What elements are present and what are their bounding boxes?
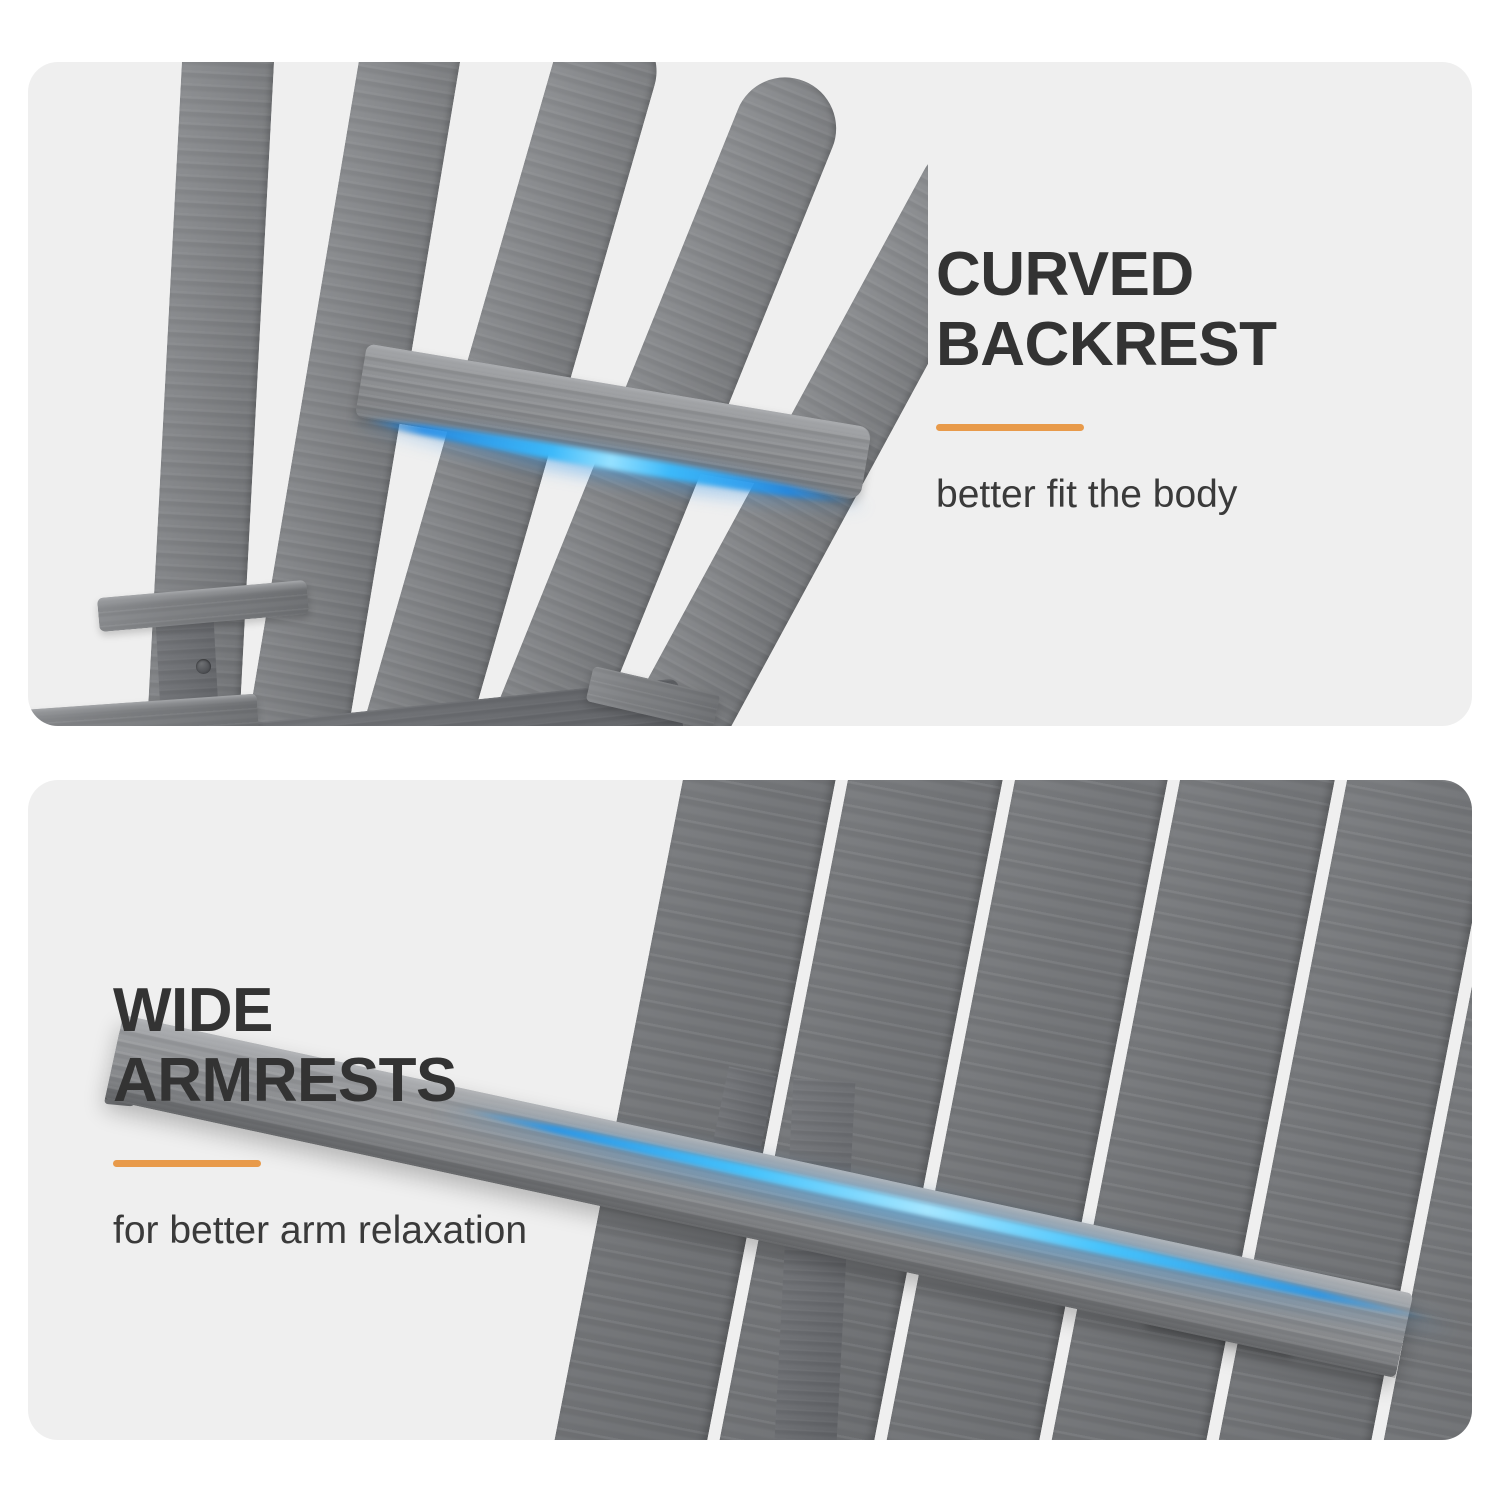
- wide-armrests-text-block: WIDE ARMRESTS for better arm relaxation: [113, 976, 673, 1256]
- accent-rule: [113, 1160, 261, 1167]
- panel-subline: better fit the body: [936, 471, 1436, 520]
- curved-backrest-image: [28, 62, 928, 726]
- feature-panel-curved-backrest: CURVED BACKREST better fit the body: [28, 62, 1472, 726]
- feature-panel-wide-armrests: WIDE ARMRESTS for better arm relaxation: [28, 780, 1472, 1440]
- curved-backrest-text-block: CURVED BACKREST better fit the body: [936, 240, 1436, 520]
- panel-subline: for better arm relaxation: [113, 1207, 673, 1256]
- panel-headline: CURVED BACKREST: [936, 240, 1436, 380]
- chair-bolt: [196, 659, 211, 674]
- chair-lower-arm-rail: [28, 694, 259, 726]
- panel-headline: WIDE ARMRESTS: [113, 976, 673, 1116]
- accent-rule: [936, 424, 1084, 431]
- product-feature-infographic: CURVED BACKREST better fit the body: [0, 0, 1500, 1500]
